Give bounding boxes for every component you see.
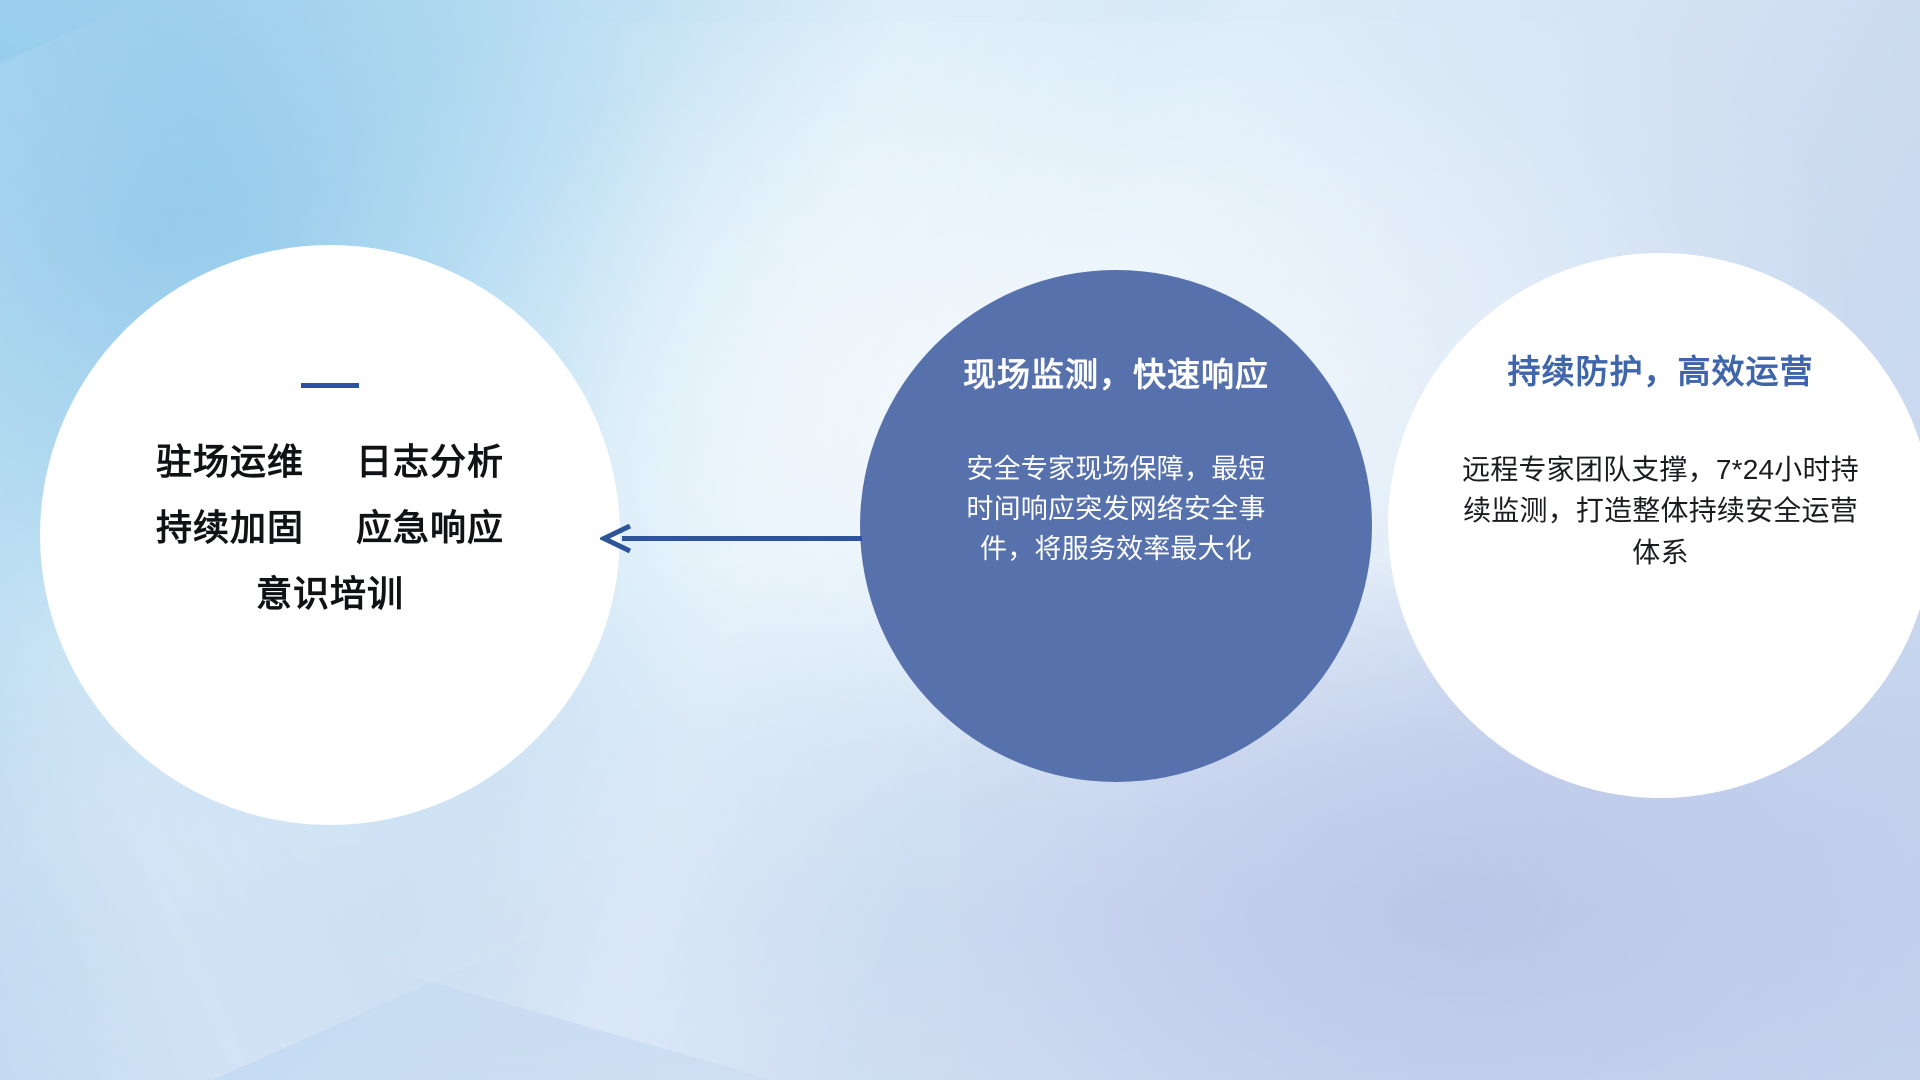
flow-arrow-left-icon	[600, 524, 868, 554]
capability-keyword: 持续加固	[156, 507, 304, 548]
onsite-monitoring-body: 安全专家现场保障，最短时间响应突发网络安全事件，将服务效率最大化	[966, 450, 1266, 570]
capability-keyword-row: 持续加固 应急响应	[156, 510, 504, 546]
continuous-operations-title: 持续防护，高效运营	[1508, 345, 1814, 393]
divider-dash-icon	[301, 383, 359, 388]
capability-keyword: 应急响应	[356, 507, 504, 548]
capability-keyword-list: 驻场运维 日志分析 持续加固 应急响应 意识培训	[156, 444, 504, 612]
capability-keyword: 意识培训	[256, 573, 404, 614]
capability-circle-left: 驻场运维 日志分析 持续加固 应急响应 意识培训	[40, 245, 620, 825]
onsite-monitoring-circle: 现场监测，快速响应 安全专家现场保障，最短时间响应突发网络安全事件，将服务效率最…	[860, 270, 1372, 782]
capability-keyword-row: 意识培训	[256, 576, 404, 612]
flow-arrow-svg	[600, 524, 868, 554]
slide-canvas: 驻场运维 日志分析 持续加固 应急响应 意识培训 现场监测，快速响应 安全专家现…	[0, 0, 1920, 1080]
continuous-operations-body: 远程专家团队支撑，7*24小时持续监测，打造整体持续安全运营体系	[1451, 449, 1871, 573]
capability-keyword: 驻场运维	[156, 441, 304, 482]
onsite-monitoring-title: 现场监测，快速响应	[963, 348, 1269, 396]
onsite-monitoring-content: 现场监测，快速响应 安全专家现场保障，最短时间响应突发网络安全事件，将服务效率最…	[860, 270, 1372, 782]
continuous-operations-content: 持续防护，高效运营 远程专家团队支撑，7*24小时持续监测，打造整体持续安全运营…	[1388, 253, 1920, 798]
capability-keyword-row: 驻场运维 日志分析	[156, 444, 504, 480]
capability-keyword: 日志分析	[356, 441, 504, 482]
continuous-operations-circle: 持续防护，高效运营 远程专家团队支撑，7*24小时持续监测，打造整体持续安全运营…	[1388, 253, 1920, 798]
capability-circle-left-content: 驻场运维 日志分析 持续加固 应急响应 意识培训	[40, 245, 620, 825]
